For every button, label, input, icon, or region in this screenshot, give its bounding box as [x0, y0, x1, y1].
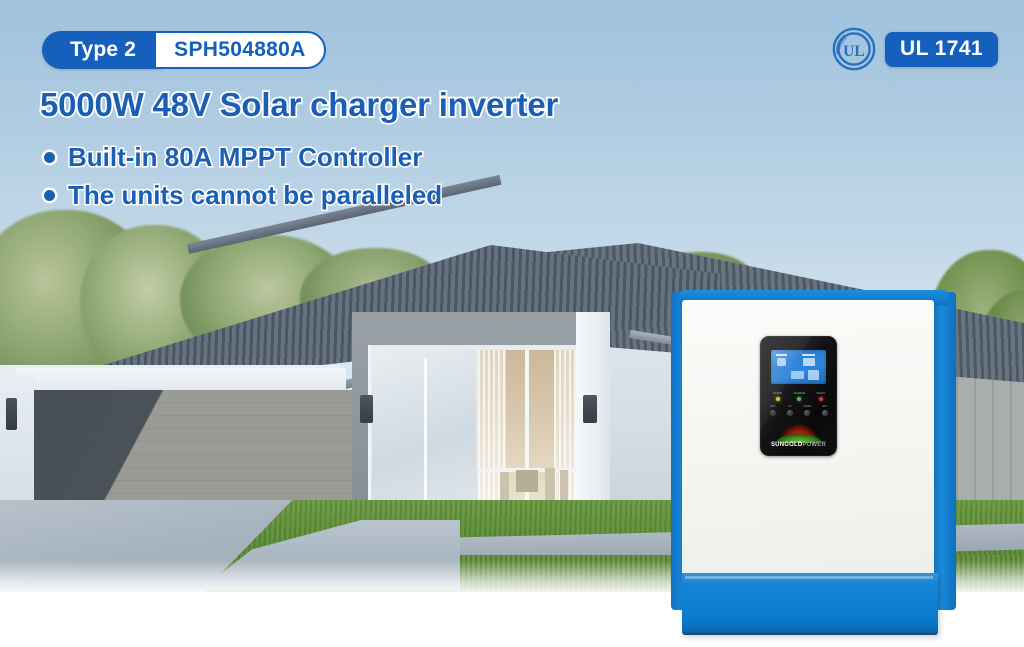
- panel-button-group: ESC UP DOWN ENT: [770, 405, 828, 416]
- product-type-badge: Type 2 SPH504880A: [42, 31, 326, 69]
- button-label: ESC: [771, 405, 776, 408]
- button-dot[interactable]: [770, 410, 776, 416]
- led-charge: CHARGE: [794, 392, 806, 401]
- badge-type-label: Type 2: [42, 31, 162, 69]
- brand-logo-text: SUNGOLDPOWER: [760, 442, 837, 448]
- wall-lamp-icon: [583, 395, 597, 423]
- brand-name-primary: SUNGOLD: [771, 442, 802, 448]
- product-image-inverter: AC/INV CHARGE FAULT ESC UP: [671, 290, 956, 635]
- button-dot[interactable]: [822, 410, 828, 416]
- page-title: 5000W 48V Solar charger inverter: [40, 86, 558, 124]
- led-lamp-icon: [797, 397, 801, 401]
- button-dot[interactable]: [787, 410, 793, 416]
- led-indicator-group: AC/INV CHARGE FAULT: [773, 392, 825, 401]
- list-item: Built-in 80A MPPT Controller: [44, 142, 442, 173]
- garage-door-shadow: [32, 390, 352, 508]
- led-lamp-icon: [776, 397, 780, 401]
- list-item: The units cannot be paralleled: [44, 180, 442, 211]
- lcd-sheen: [771, 350, 826, 384]
- feature-label: The units cannot be paralleled: [68, 180, 442, 211]
- inverter-base-highlight: [685, 576, 933, 579]
- button-label: DOWN: [804, 405, 812, 408]
- panel-button-up[interactable]: UP: [787, 405, 793, 416]
- led-label: CHARGE: [794, 392, 806, 395]
- button-label: ENT: [823, 405, 828, 408]
- led-label: FAULT: [817, 392, 825, 395]
- panel-button-esc[interactable]: ESC: [770, 405, 776, 416]
- interior-furniture: [560, 470, 568, 504]
- button-label: UP: [788, 405, 791, 408]
- ul-standard-badge: UL 1741: [885, 32, 998, 67]
- led-fault: FAULT: [817, 392, 825, 401]
- brand-name-secondary: POWER: [802, 442, 826, 448]
- inverter-base-band: [682, 573, 938, 635]
- feature-label: Built-in 80A MPPT Controller: [68, 142, 422, 173]
- garage-soffit: [16, 368, 346, 390]
- wall-lamp-icon: [360, 395, 373, 423]
- product-banner: Type 2 SPH504880A 5000W 48V Solar charge…: [0, 0, 1024, 647]
- badge-model-label: SPH504880A: [154, 31, 325, 69]
- panel-button-ent[interactable]: ENT: [822, 405, 828, 416]
- feature-list: Built-in 80A MPPT Controller The units c…: [44, 142, 442, 218]
- led-label: AC/INV: [773, 392, 782, 395]
- panel-button-down[interactable]: DOWN: [804, 405, 812, 416]
- lcd-display: [771, 350, 826, 384]
- wall-lamp-icon: [6, 398, 17, 430]
- led-ac-inv: AC/INV: [773, 392, 782, 401]
- interior-furniture: [516, 470, 538, 492]
- svg-text:UL: UL: [843, 43, 865, 60]
- led-lamp-icon: [819, 397, 823, 401]
- ul-circle-icon: UL: [832, 27, 876, 71]
- bullet-dot-icon: [44, 152, 55, 163]
- button-dot[interactable]: [804, 410, 810, 416]
- inverter-control-panel[interactable]: AC/INV CHARGE FAULT ESC UP: [760, 336, 837, 456]
- certification-group: UL UL 1741: [832, 27, 998, 71]
- interior-furniture: [545, 468, 555, 504]
- bullet-dot-icon: [44, 190, 55, 201]
